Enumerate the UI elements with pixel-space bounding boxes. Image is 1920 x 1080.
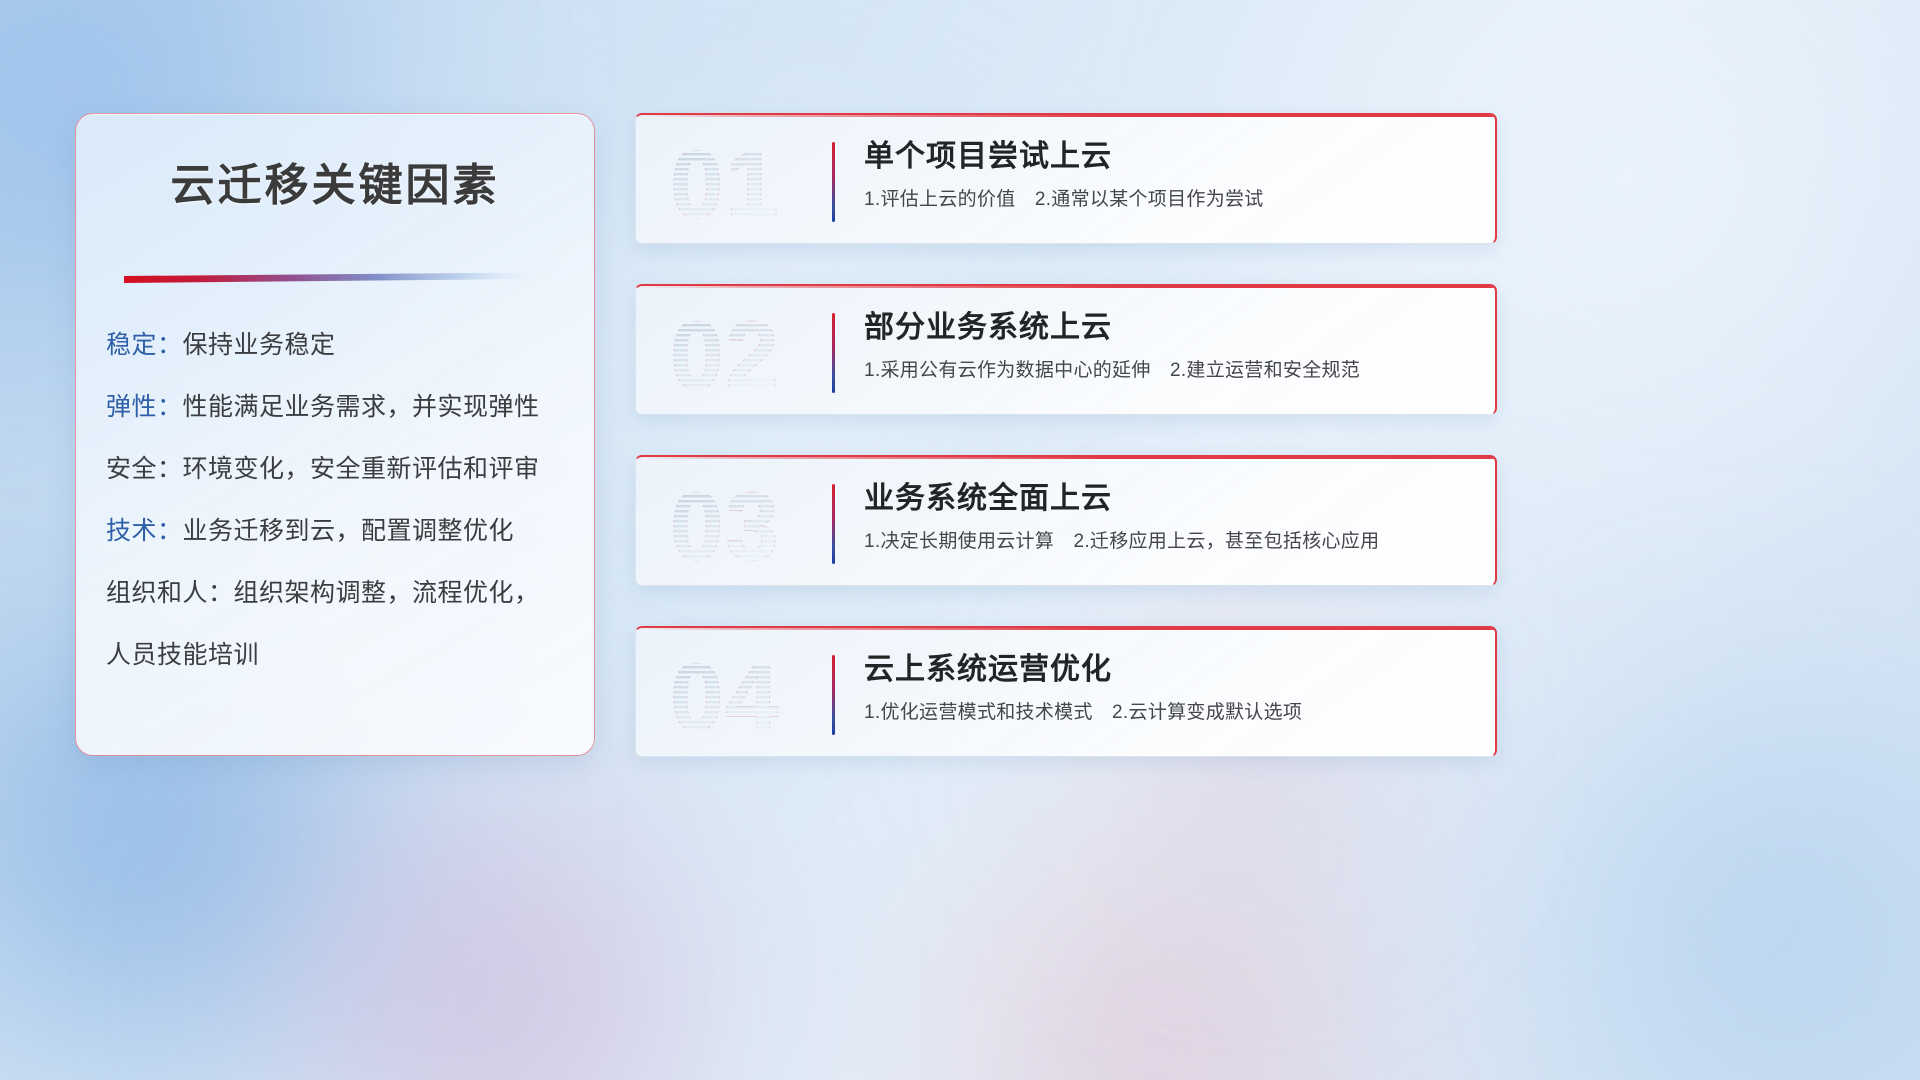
- title-underline-bar: [124, 272, 534, 283]
- list-item-key: 弹性：: [106, 393, 183, 421]
- list-item-text: 人员技能培训: [106, 641, 259, 669]
- list-item: 稳定：保持业务稳定: [106, 314, 576, 376]
- list-item-key: 安全：: [106, 455, 183, 483]
- list-item: 组织和人：组织架构调整，流程优化，: [106, 562, 576, 624]
- list-item-key: 稳定：: [106, 331, 183, 359]
- stage-number-02-icon: 02 02: [668, 304, 828, 400]
- list-item-text: 组织架构调整，流程优化，: [234, 579, 540, 607]
- list-item: 技术：业务迁移到云，配置调整优化: [106, 500, 576, 562]
- stage-divider-01: [832, 142, 835, 222]
- svg-text:01: 01: [670, 133, 781, 229]
- svg-text:04: 04: [670, 646, 781, 742]
- stage-number-03-icon: 03 03: [668, 475, 828, 571]
- stage-card-03[interactable]: 03 03 业务系统全面上云 1.决定长期使用云计算 2.迁移应用上云，甚至包括…: [635, 455, 1497, 586]
- stage-divider-03: [832, 484, 835, 564]
- list-item-text: 性能满足业务需求，并实现弹性: [183, 393, 540, 421]
- stage-subtitle: 1.采用公有云作为数据中心的延伸 2.建立运营和安全规范: [864, 356, 1479, 386]
- stage-subtitle: 1.决定长期使用云计算 2.迁移应用上云，甚至包括核心应用: [864, 527, 1479, 557]
- stage-card-body-01: 单个项目尝试上云 1.评估上云的价值 2.通常以某个项目作为尝试: [864, 135, 1479, 215]
- list-item: 人员技能培训: [106, 624, 576, 686]
- stage-title: 业务系统全面上云: [864, 477, 1479, 521]
- stage-card-04[interactable]: 04 04 云上系统运营优化 1.优化运营模式和技术模式 2.云计算变成默认选项: [635, 626, 1497, 757]
- stage-number-01-icon: 01 01: [668, 133, 828, 229]
- key-factors-panel: 云迁移关键因素 稳定：保持业务稳定: [75, 113, 595, 756]
- list-item-key: 技术：: [106, 517, 183, 545]
- stage-card-body-04: 云上系统运营优化 1.优化运营模式和技术模式 2.云计算变成默认选项: [864, 648, 1479, 728]
- svg-text:02: 02: [670, 304, 781, 400]
- list-item: 安全：环境变化，安全重新评估和评审: [106, 438, 576, 500]
- stage-card-body-03: 业务系统全面上云 1.决定长期使用云计算 2.迁移应用上云，甚至包括核心应用: [864, 477, 1479, 557]
- key-factors-list: 稳定：保持业务稳定 弹性：性能满足业务需求，并实现弹性 安全：环境变化，安全重新…: [106, 314, 576, 686]
- list-item: 弹性：性能满足业务需求，并实现弹性: [106, 376, 576, 438]
- stage-title: 部分业务系统上云: [864, 306, 1479, 350]
- slide-stage: 云迁移关键因素 稳定：保持业务稳定: [0, 0, 1920, 1080]
- stage-title: 云上系统运营优化: [864, 648, 1479, 692]
- stage-subtitle: 1.评估上云的价值 2.通常以某个项目作为尝试: [864, 185, 1479, 215]
- stage-card-01[interactable]: 01 01 单个项目尝试上云 1.评估上云的价值 2.通常以某个项目作为尝试: [635, 113, 1497, 244]
- list-item-text: 环境变化，安全重新评估和评审: [183, 455, 540, 483]
- list-item-text: 保持业务稳定: [183, 331, 336, 359]
- svg-text:04: 04: [670, 646, 781, 742]
- migration-stage-cards: 01 01 单个项目尝试上云 1.评估上云的价值 2.通常以某个项目作为尝试: [635, 113, 1497, 797]
- stage-number-04-icon: 04 04: [668, 646, 828, 742]
- svg-text:03: 03: [670, 475, 781, 571]
- stage-card-body-02: 部分业务系统上云 1.采用公有云作为数据中心的延伸 2.建立运营和安全规范: [864, 306, 1479, 386]
- svg-text:03: 03: [670, 475, 781, 571]
- svg-text:02: 02: [670, 304, 781, 400]
- page-title: 云迁移关键因素: [76, 149, 594, 213]
- list-item-key: 组织和人：: [106, 579, 234, 607]
- stage-divider-02: [832, 313, 835, 393]
- stage-subtitle: 1.优化运营模式和技术模式 2.云计算变成默认选项: [864, 698, 1479, 728]
- svg-text:01: 01: [670, 133, 781, 229]
- stage-title: 单个项目尝试上云: [864, 135, 1479, 179]
- list-item-text: 业务迁移到云，配置调整优化: [183, 517, 515, 545]
- stage-card-02[interactable]: 02 02 部分业务系统上云 1.采用公有云作为数据中心的延伸 2.建立运营和安…: [635, 284, 1497, 415]
- stage-divider-04: [832, 655, 835, 735]
